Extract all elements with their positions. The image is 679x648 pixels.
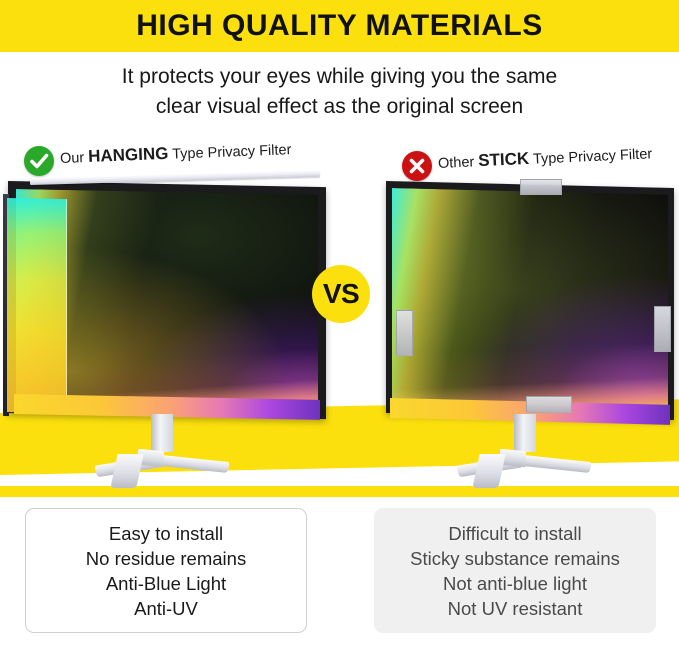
right-label-suffix: Type Privacy Filter bbox=[529, 146, 653, 168]
right-label-prefix: Other bbox=[438, 154, 479, 172]
hanging-strip-icon bbox=[30, 170, 320, 185]
adhesive-tab-top-icon bbox=[520, 179, 562, 195]
stick-type-monitor bbox=[378, 178, 674, 478]
left-label-emphasis: HANGING bbox=[88, 144, 169, 166]
monitor-stand-neck bbox=[514, 414, 536, 452]
right-label-emphasis: STICK bbox=[478, 149, 530, 170]
feature-line: Anti-Blue Light bbox=[106, 571, 226, 596]
red-cross-circle-icon bbox=[402, 151, 432, 181]
subtitle: It protects your eyes while giving you t… bbox=[34, 62, 645, 122]
left-label-suffix: Type Privacy Filter bbox=[168, 142, 292, 163]
stand-leg-front bbox=[472, 454, 505, 488]
vs-badge: VS bbox=[312, 265, 370, 323]
hanging-type-monitor bbox=[8, 176, 330, 476]
feature-boxes: Easy to install No residue remains Anti-… bbox=[0, 500, 679, 648]
right-monitor-label: Other STICK Type Privacy Filter bbox=[438, 143, 653, 173]
adhesive-tab-bottom-icon bbox=[526, 396, 572, 413]
feature-line: Difficult to install bbox=[448, 521, 581, 546]
feature-line: Sticky substance remains bbox=[410, 546, 620, 571]
feature-line: Anti-UV bbox=[134, 596, 198, 621]
subtitle-line-2: clear visual effect as the original scre… bbox=[34, 92, 645, 122]
comparison-stage: Our HANGING Type Privacy Filter VS bbox=[0, 136, 679, 498]
adhesive-tab-left-icon bbox=[396, 310, 413, 356]
left-monitor-label: Our HANGING Type Privacy Filter bbox=[60, 139, 292, 168]
feature-box-stick: Difficult to install Sticky substance re… bbox=[374, 508, 656, 633]
hanging-film-sheet bbox=[7, 198, 67, 413]
feature-line: No residue remains bbox=[86, 546, 246, 571]
page-title: HIGH QUALITY MATERIALS bbox=[0, 0, 679, 52]
feature-box-hanging: Easy to install No residue remains Anti-… bbox=[25, 508, 307, 633]
subtitle-line-1: It protects your eyes while giving you t… bbox=[34, 62, 645, 92]
screen-sheen bbox=[392, 188, 668, 413]
monitor-screen bbox=[392, 188, 668, 413]
monitor-stand-base bbox=[94, 448, 230, 492]
feature-line: Not UV resistant bbox=[448, 596, 583, 621]
left-label-prefix: Our bbox=[60, 150, 89, 167]
stand-leg-front bbox=[110, 454, 143, 488]
feature-line: Easy to install bbox=[109, 521, 223, 546]
green-check-circle-icon bbox=[24, 146, 54, 176]
monitor-stand-neck bbox=[151, 414, 173, 452]
feature-line: Not anti-blue light bbox=[443, 571, 587, 596]
adhesive-tab-right-icon bbox=[654, 306, 671, 352]
monitor-stand-base bbox=[456, 448, 592, 492]
